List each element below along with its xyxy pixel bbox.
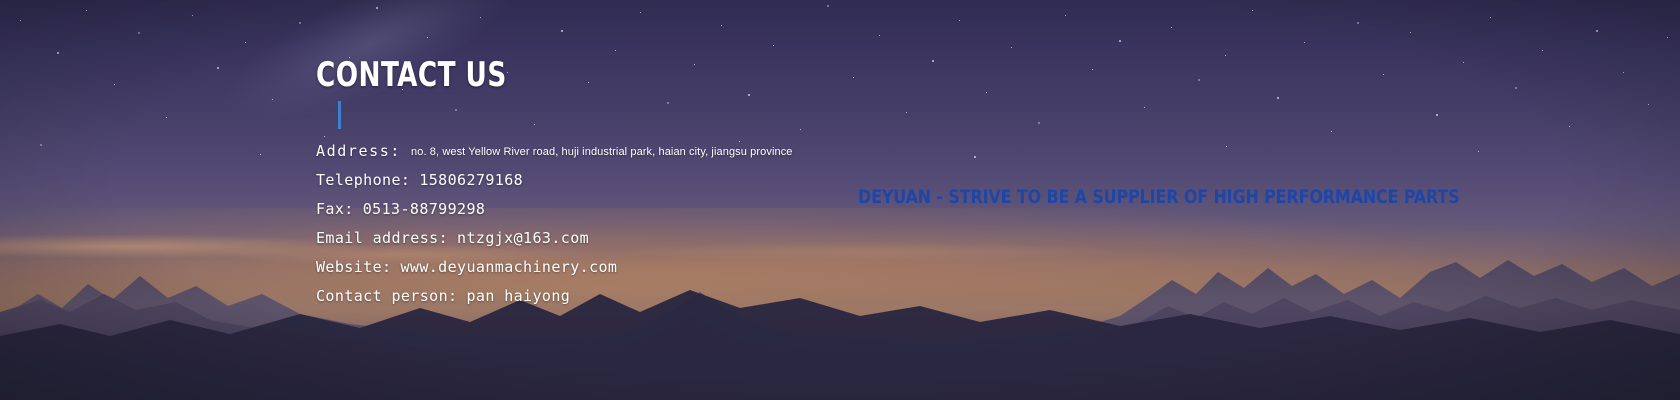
contact-details-list: Address: no. 8, west Yellow River road, … [316,142,793,316]
contact-row-email: Email address: ntzgjx@163.com [316,229,793,258]
contact-row-telephone: Telephone: 15806279168 [316,171,793,200]
contact-row-person: Contact person: pan haiyong [316,287,793,316]
contact-label-fax: Fax: [316,200,354,218]
contact-row-fax: Fax: 0513-88799298 [316,200,793,229]
contact-value-telephone[interactable]: 15806279168 [419,171,523,189]
contact-label-website: Website: [316,258,391,276]
company-tagline: DEYUAN - STRIVE TO BE A SUPPLIER OF HIGH… [858,186,1459,208]
contact-row-address: Address: no. 8, west Yellow River road, … [316,142,793,171]
contact-value-address: no. 8, west Yellow River road, huji indu… [411,146,792,158]
accent-bar [338,101,341,129]
contact-label-person: Contact person: [316,287,457,305]
contact-value-email[interactable]: ntzgjx@163.com [457,229,589,247]
contact-label-address: Address: [316,142,401,160]
contact-label-telephone: Telephone: [316,171,410,189]
page-title: CONTACT US [316,58,507,92]
contact-value-website[interactable]: www.deyuanmachinery.com [400,258,617,276]
contact-banner: CONTACT US Address: no. 8, west Yellow R… [0,0,1680,400]
contact-value-fax: 0513-88799298 [363,200,486,218]
contact-label-email: Email address: [316,229,448,247]
contact-row-website: Website: www.deyuanmachinery.com [316,258,793,287]
contact-value-person: pan haiyong [466,287,570,305]
